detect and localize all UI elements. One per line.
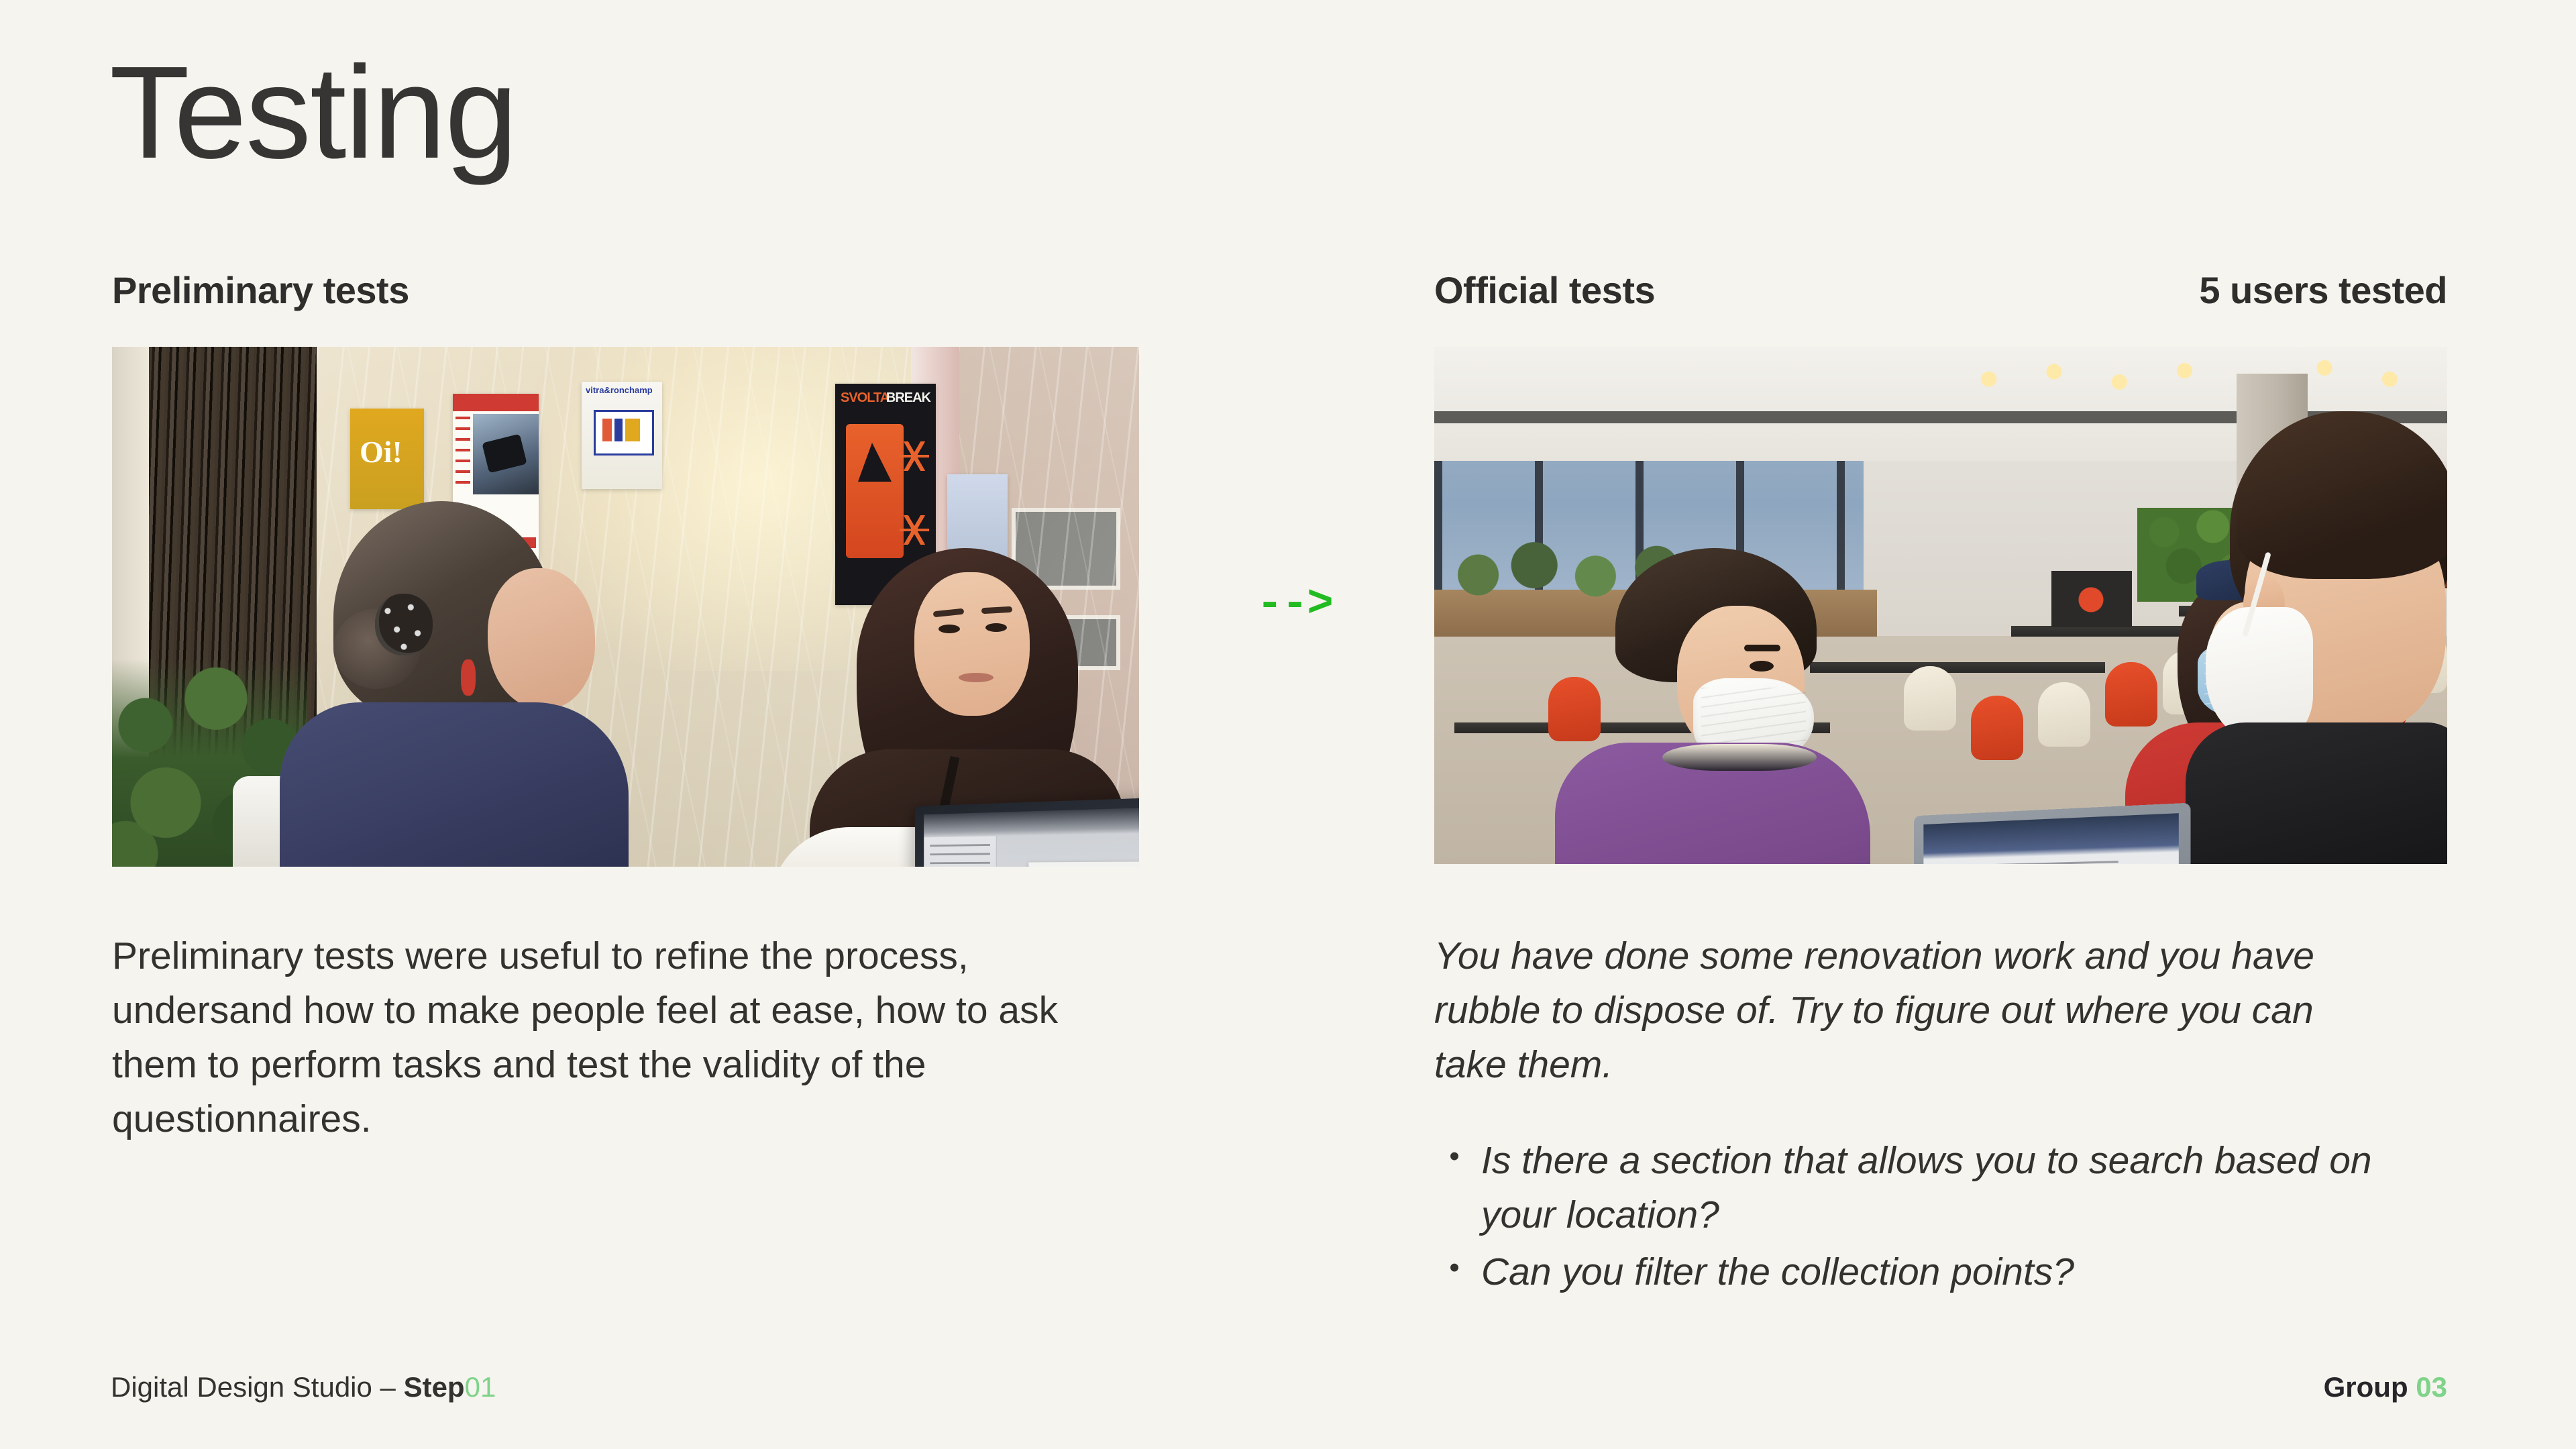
official-tests-questions: Is there a section that allows you to se…: [1434, 1134, 2420, 1302]
official-tests-scenario: You have done some renovation work and y…: [1434, 929, 2373, 1092]
footer-group-number: 03: [2416, 1371, 2447, 1403]
footer-right: Group 03: [2324, 1371, 2447, 1403]
poster-vitra: vitra&ronchamp: [582, 382, 662, 489]
preliminary-tests-photo: Oi! vitra&ronchamp SVOLTABREAK: [112, 347, 1139, 867]
white-mask-icon: [2206, 607, 2313, 741]
laptop-left: [915, 794, 1139, 867]
person-left-coat: [280, 702, 629, 867]
page-title: Testing: [109, 40, 517, 185]
users-tested-badge: 5 users tested: [2199, 272, 2447, 309]
footer-step-number: 01: [465, 1371, 496, 1403]
right-column-heading: Official tests: [1434, 272, 1655, 309]
person-right-face: [914, 572, 1030, 716]
black-tshirt: [2186, 722, 2447, 864]
poster-oi: Oi!: [350, 409, 424, 509]
footer-step-label: Step: [404, 1371, 465, 1403]
flow-arrow-icon: -->: [1256, 582, 1332, 627]
footer-group-label: Group: [2324, 1371, 2408, 1403]
official-tests-photo: [1434, 347, 2447, 864]
preliminary-tests-body: Preliminary tests were useful to refine …: [112, 929, 1132, 1146]
person-left-face: [488, 568, 595, 709]
list-item: Is there a section that allows you to se…: [1481, 1134, 2420, 1242]
left-column-heading: Preliminary tests: [112, 272, 409, 309]
footer-studio-label: Digital Design Studio –: [111, 1371, 404, 1403]
footer-left: Digital Design Studio – Step01: [111, 1371, 496, 1403]
string-lights: [1961, 358, 2427, 405]
list-item: Can you filter the collection points?: [1481, 1245, 2420, 1299]
slide: Testing Preliminary tests Official tests…: [0, 0, 2576, 1449]
